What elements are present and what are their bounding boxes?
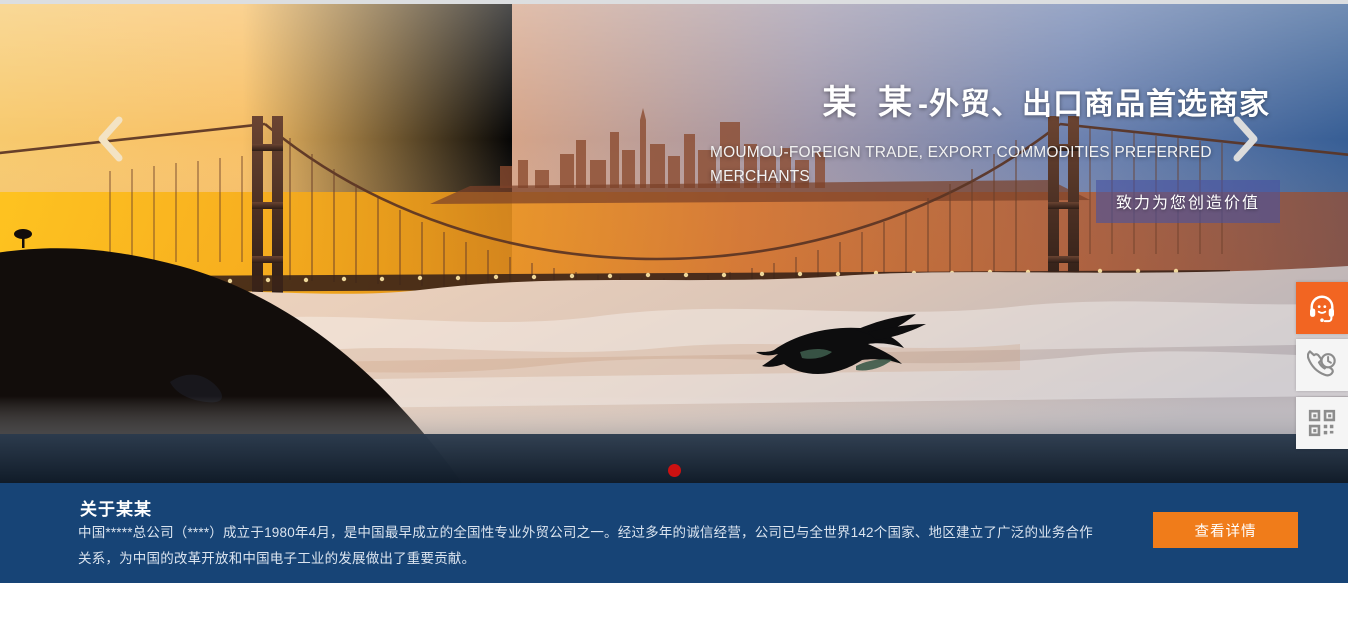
phone-clock-icon — [1307, 350, 1337, 380]
qr-code-button[interactable] — [1296, 397, 1348, 449]
headset-icon — [1307, 293, 1337, 323]
hero-slogan-badge[interactable]: 致力为您创造价值 — [1096, 180, 1280, 223]
carousel-prev-button[interactable] — [80, 99, 140, 179]
chevron-left-icon — [95, 116, 125, 162]
floating-action-rail[interactable] — [1296, 282, 1348, 455]
about-title: 关于某某 — [80, 495, 152, 520]
carousel-dot-1[interactable] — [668, 464, 681, 477]
hero-background-image — [0, 4, 1348, 483]
customer-service-button[interactable] — [1296, 282, 1348, 334]
chevron-right-icon — [1230, 116, 1260, 162]
hero-title: 某 某-外贸、出口商品首选商家 — [710, 82, 1270, 125]
about-inner: 关于某某 中国*****总公司（****）成立于1980年4月，是中国最早成立的… — [0, 483, 1348, 583]
about-details-button[interactable]: 查看详情 — [1153, 512, 1298, 548]
qr-code-icon — [1308, 409, 1336, 437]
about-paragraph: 中国*****总公司（****）成立于1980年4月，是中国最早成立的全国性专业… — [78, 520, 1098, 573]
carousel-dots[interactable] — [0, 464, 1348, 477]
about-section: 关于某某 中国*****总公司（****）成立于1980年4月，是中国最早成立的… — [0, 483, 1348, 583]
hero-title-lead: 某 某 — [823, 84, 918, 122]
hero-copy: 某 某-外贸、出口商品首选商家 MOUMOU-FOREIGN TRADE, EX… — [710, 82, 1270, 189]
hero-carousel[interactable]: 某 某-外贸、出口商品首选商家 MOUMOU-FOREIGN TRADE, EX… — [0, 4, 1348, 483]
callback-button[interactable] — [1296, 339, 1348, 391]
carousel-next-button[interactable] — [1215, 99, 1275, 179]
